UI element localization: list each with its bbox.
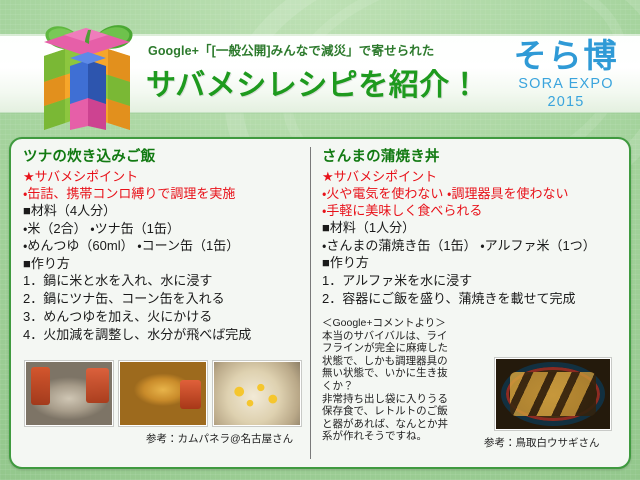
comment-line: 無い状態で、いかに生き抜: [322, 367, 485, 380]
ingredient-line: ・米（2合） ・ツナ缶（1缶）: [23, 220, 310, 238]
sprout-cube-mascot-icon: [30, 8, 148, 130]
ingredient-line: ・めんつゆ（60ml） ・コーン缶（1缶）: [23, 237, 310, 255]
steps-heading: ■作り方: [23, 255, 310, 273]
recipe-point-heading: ★サバメシポイント: [322, 168, 629, 185]
comment-heading: ＜Google+コメントより＞: [322, 317, 485, 330]
recipes-panel: ツナの炊き込みご飯 ★サバメシポイント ・缶詰、携帯コンロ縛りで調理を実施 ■材…: [9, 137, 631, 469]
recipe-column-sanma: さんまの蒲焼き丼 ★サバメシポイント ・火や電気を使わない ・調理器具を使わない…: [310, 139, 629, 467]
page-header: Google+「[一般公開]みんなで減災」で寄せられた サバメシレシピを紹介！ …: [0, 0, 640, 122]
step-line: 4．火加減を調整し、水分が飛べば完成: [23, 326, 310, 344]
recipe-photo-pot-on-stove: [25, 361, 113, 426]
header-subtitle: Google+「[一般公開]みんなで減災」で寄せられた: [148, 40, 434, 59]
steps-heading: ■作り方: [322, 254, 629, 272]
step-line: 1．鍋に米と水を入れ、水に浸す: [23, 272, 310, 290]
recipe-point-heading: ★サバメシポイント: [23, 168, 310, 185]
step-line: 1．アルファ米を水に浸す: [322, 272, 629, 290]
step-line: 3．めんつゆを加え、火にかける: [23, 308, 310, 326]
page-title: サバメシレシピを紹介！: [146, 60, 480, 104]
recipe-point: ・缶詰、携帯コンロ縛りで調理を実施: [23, 185, 310, 202]
comment-line: くか？: [322, 380, 485, 393]
recipe-column-tuna: ツナの炊き込みご飯 ★サバメシポイント ・缶詰、携帯コンロ縛りで調理を実施 ■材…: [11, 139, 310, 467]
step-line: 2．鍋にツナ缶、コーン缶を入れる: [23, 290, 310, 308]
recipe-point: ・火や電気を使わない ・調理器具を使わない: [322, 185, 629, 202]
recipe-title: ツナの炊き込みご飯: [23, 148, 310, 167]
comment-line: 系が作れそうですね。: [322, 430, 485, 443]
comment-line: と器があれば、なんとか丼: [322, 418, 485, 431]
recipe-credit: 参考：カムパネラ@名古屋さん: [146, 431, 293, 446]
comment-line: 本当のサバイバルは、ライ: [322, 330, 485, 343]
google-plus-comment-box: ＜Google+コメントより＞ 本当のサバイバルは、ライ フラインが完全に麻痺し…: [322, 317, 485, 443]
recipe-photo-boiling-pot: [119, 361, 207, 426]
comment-line: フラインが完全に麻痺した: [322, 342, 485, 355]
comment-line: 状態で、しかも調理器具の: [322, 355, 485, 368]
logo-english-text: SORA EXPO 2015: [498, 75, 634, 111]
ingredient-line: ・さんまの蒲焼き缶（1缶） ・アルファ米（1つ）: [322, 237, 629, 255]
comment-line: 非常持ち出し袋に入りうる: [322, 393, 485, 406]
recipe-photo-sanma-bowl: [495, 358, 611, 430]
logo-japanese-text: そら博: [498, 38, 634, 74]
recipe-title: さんまの蒲焼き丼: [322, 148, 629, 167]
sora-expo-logo: そら博 SORA EXPO 2015: [498, 38, 634, 111]
ingredients-heading: ■材料（4人分）: [23, 202, 310, 220]
ingredients-heading: ■材料（1人分）: [322, 219, 629, 237]
recipe-photo-finished-rice: [213, 361, 301, 426]
comment-line: 保存食で、レトルトのご飯: [322, 405, 485, 418]
recipe-credit: 参考：鳥取白ウサギさん: [484, 435, 600, 450]
step-line: 2．容器にご飯を盛り、蒲焼きを載せて完成: [322, 290, 629, 308]
recipe-point: ・手軽に美味しく食べられる: [322, 202, 629, 219]
